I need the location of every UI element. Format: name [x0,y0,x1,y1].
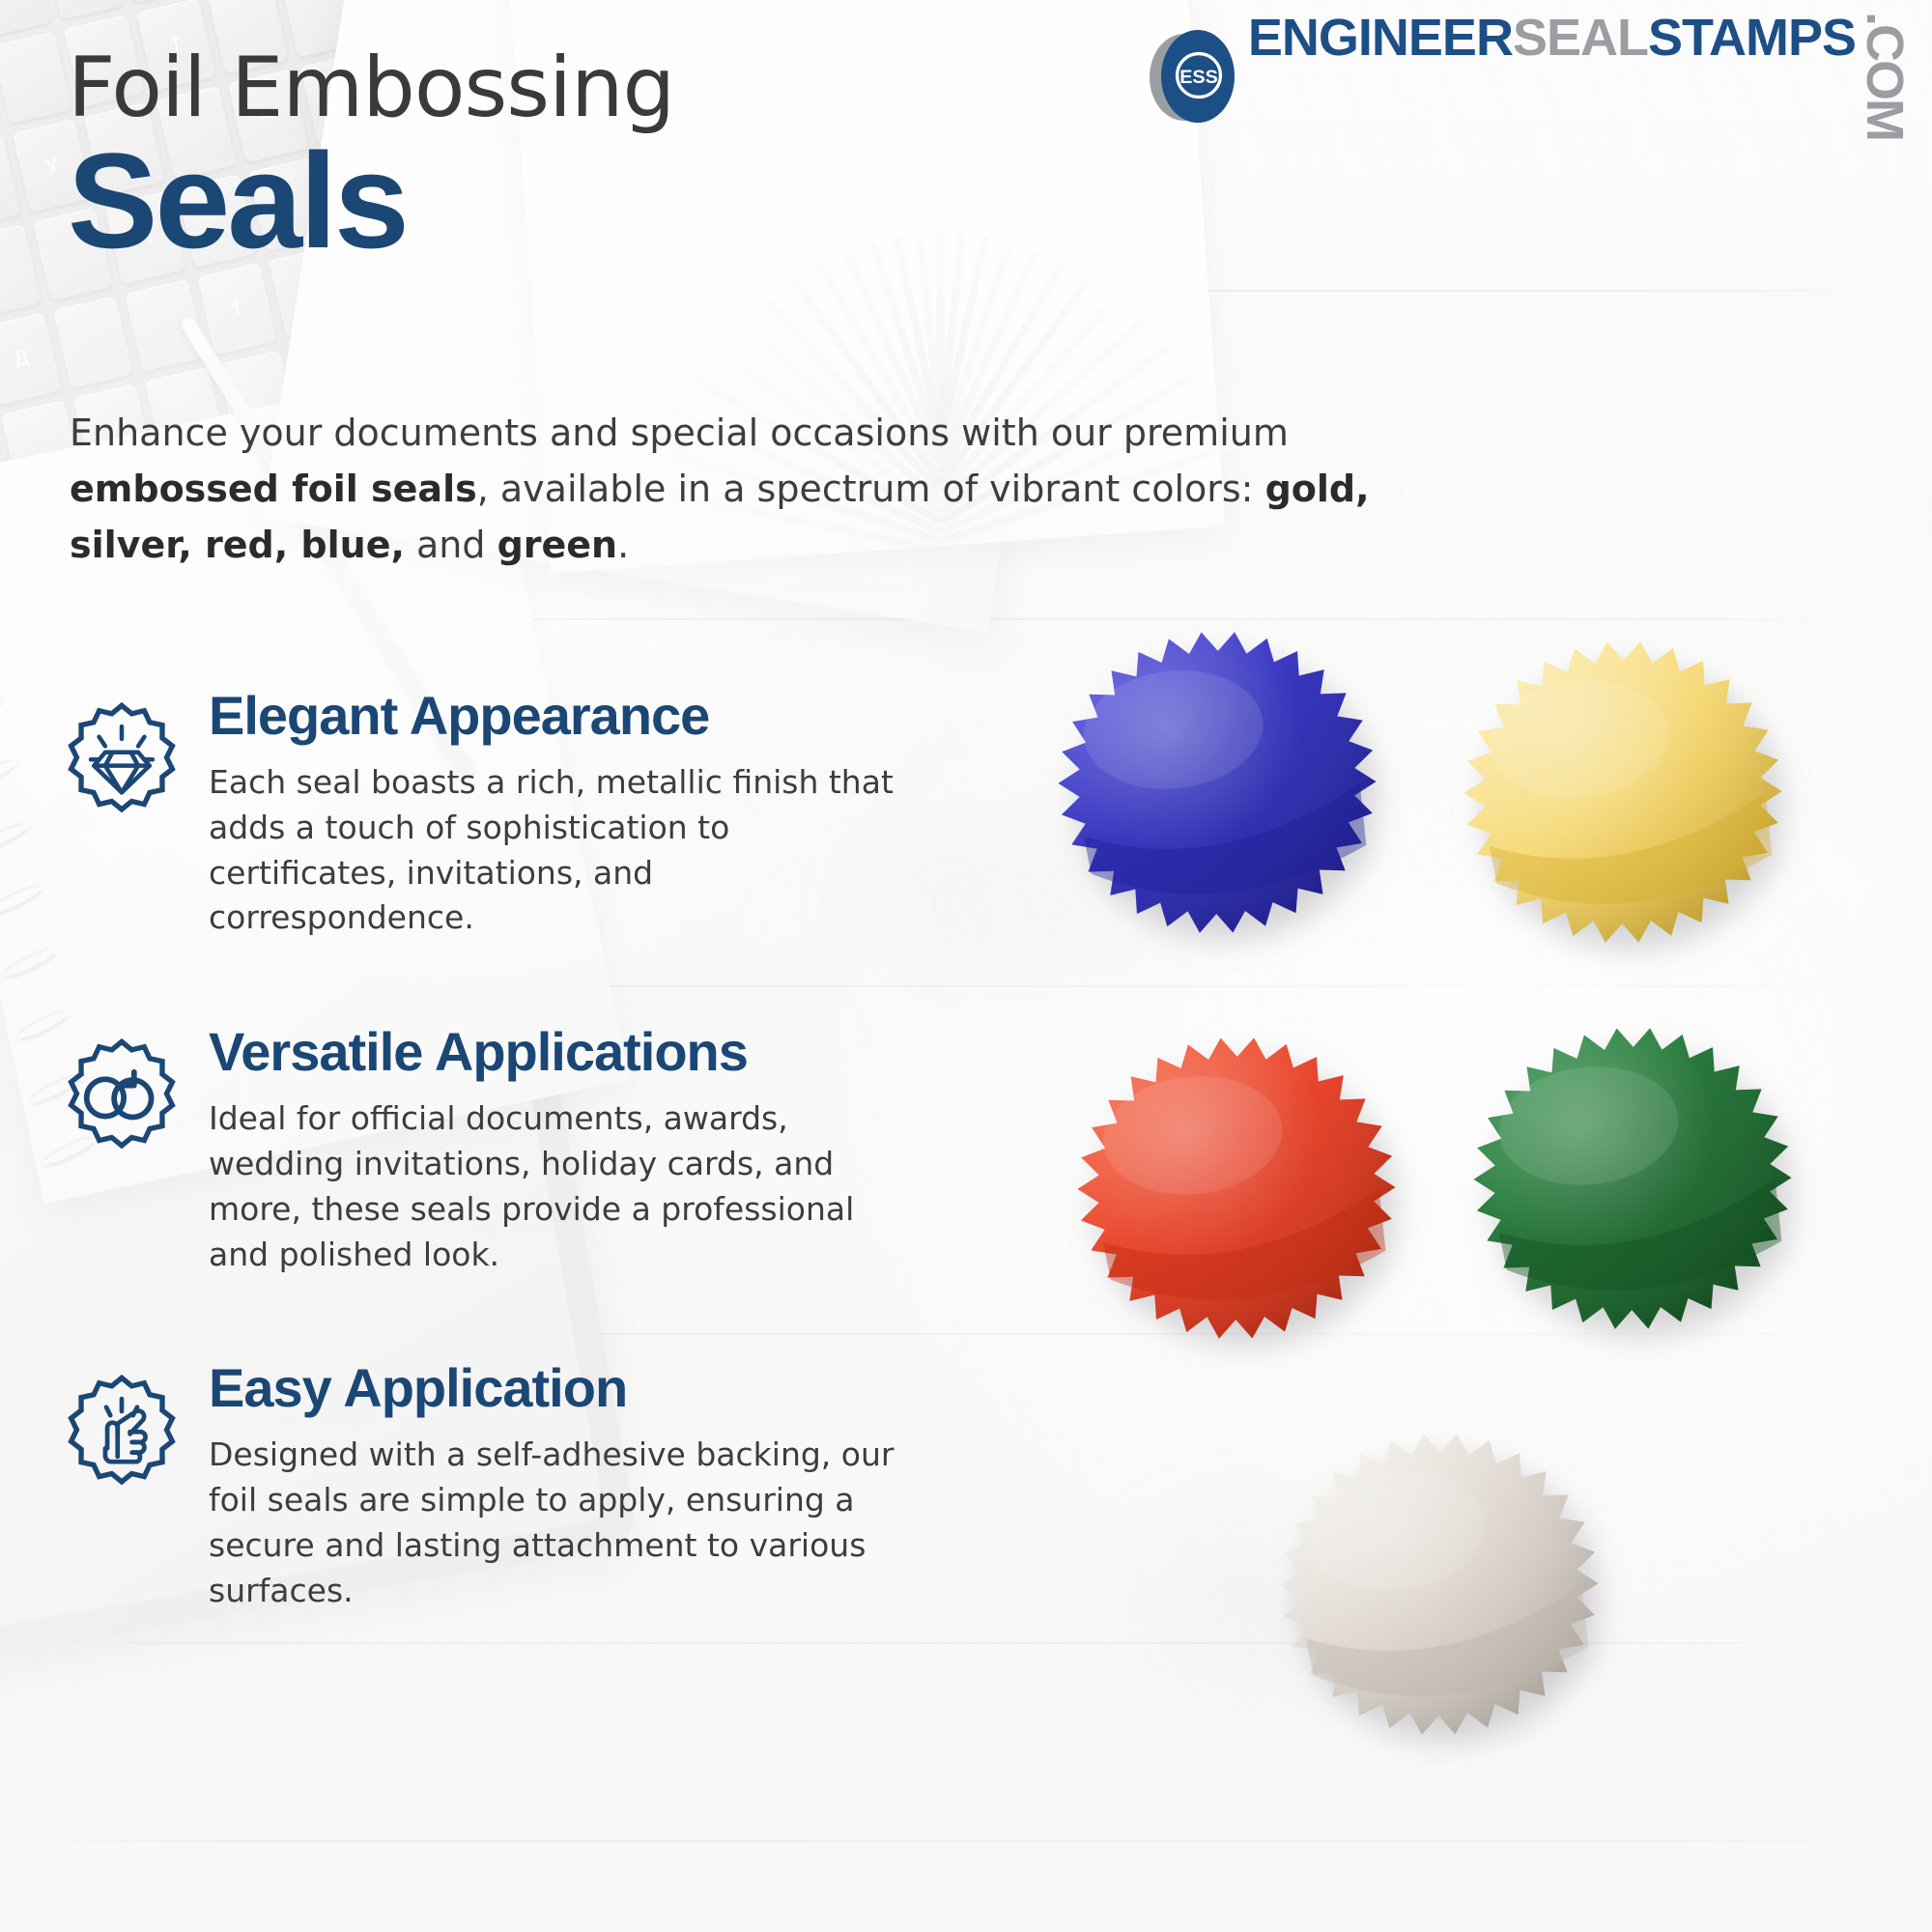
logo-word-engineer: ENGINEER [1248,12,1513,64]
feature-item: Easy Application Designed with a self-ad… [60,1349,910,1613]
feature-title: Easy Application [209,1360,910,1417]
page-title: Foil Embossing Seals [68,46,674,269]
foil-seal-gallery [1043,618,1913,1835]
feature-text: Ideal for official documents, awards, we… [209,1096,910,1277]
foil-seal-blue [1043,618,1391,947]
logo-tld: .COM [1859,12,1911,140]
intro-part-3: and [405,524,497,566]
logo-word-seal: SEAL [1513,12,1648,64]
ess-gear-badge-icon: ESS [1150,30,1235,123]
intro-part-1: Enhance your documents and special occas… [70,412,1289,454]
title-line-1: Foil Embossing [68,46,674,131]
feature-title: Elegant Appearance [209,688,910,745]
feature-list: Elegant Appearance Each seal boasts a ri… [60,676,910,1686]
intro-part-4: . [617,524,629,566]
feature-title: Versatile Applications [209,1024,910,1081]
title-line-2: Seals [68,133,674,269]
foil-seal-silver [1265,1420,1613,1748]
feature-text: Designed with a self-adhesive backing, o… [209,1433,910,1613]
intro-paragraph: Enhance your documents and special occas… [70,406,1441,573]
feature-item: Versatile Applications Ideal for officia… [60,1012,910,1277]
infinity-loop-badge-icon [60,1030,184,1153]
gear-icon: ESS [1167,43,1231,107]
foil-seal-gold [1449,628,1797,956]
foil-seal-green [1459,1014,1806,1343]
foil-seal-red [1063,1024,1410,1352]
logo-word-stamps: STAMPS [1648,12,1856,64]
intro-part-2: , available in a spectrum of vibrant col… [477,468,1265,510]
feature-text: Each seal boasts a rich, metallic finish… [209,760,910,941]
feature-item: Elegant Appearance Each seal boasts a ri… [60,676,910,941]
logo-ess-text: ESS [1179,66,1218,87]
site-logo[interactable]: ESS ENGINEER SEAL STAMPS .COM [1150,12,1911,140]
pointing-hand-tap-badge-icon [60,1366,184,1490]
intro-bold-3: green [497,524,618,566]
intro-bold-1: embossed foil seals [70,468,477,510]
diamond-gem-badge-icon [60,694,184,817]
